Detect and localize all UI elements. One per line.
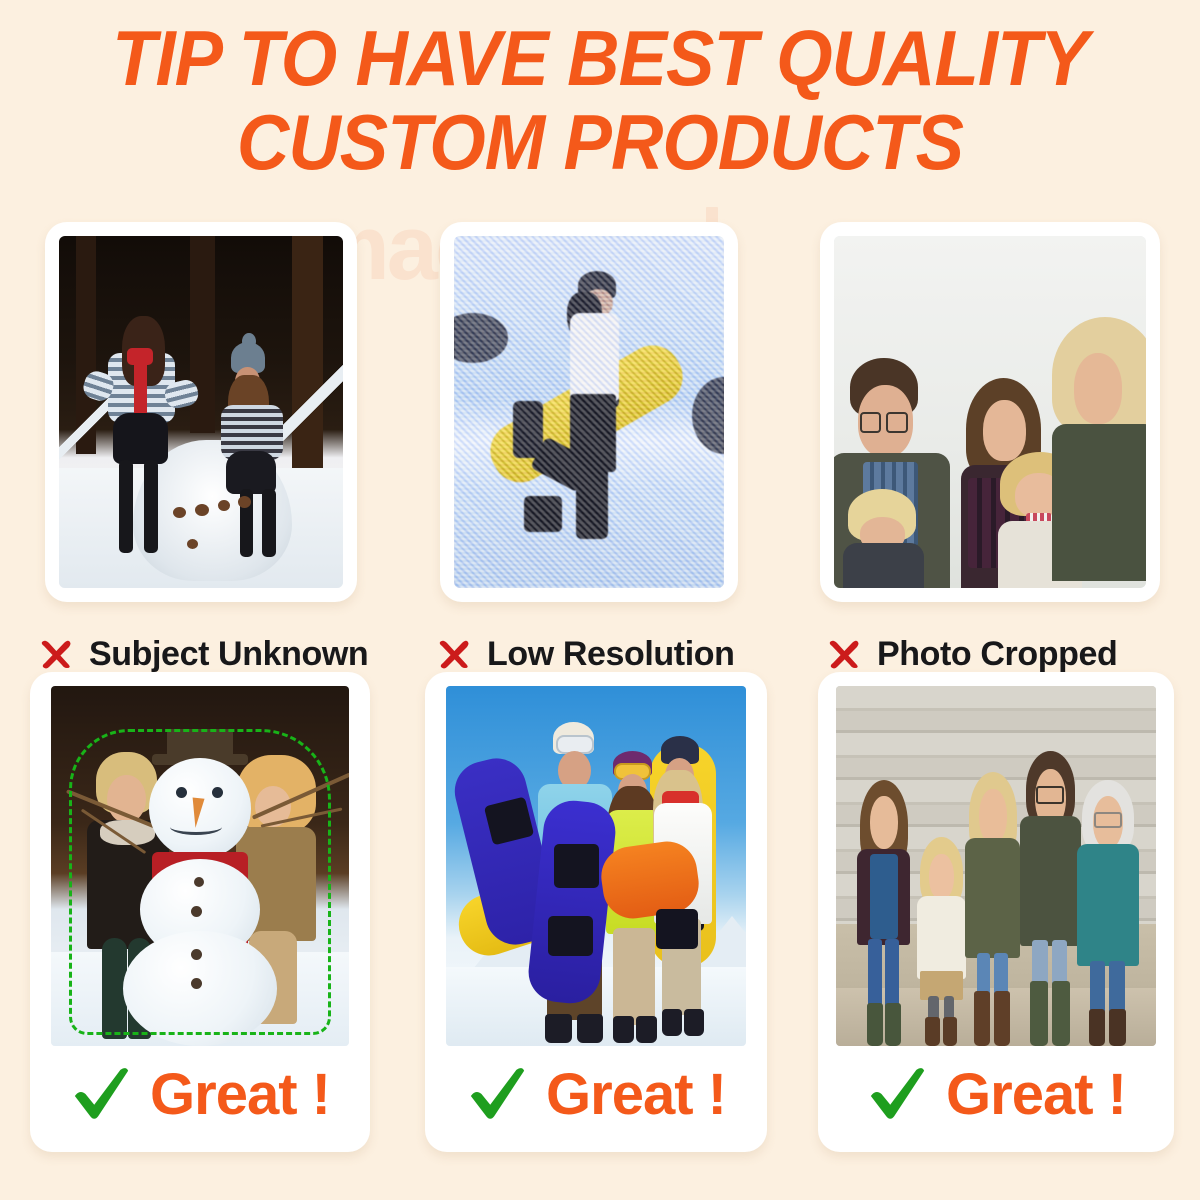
scene-three-snowboarders <box>446 686 746 1046</box>
good-examples-row: Great ! <box>0 672 1200 1172</box>
photo-cropped <box>834 236 1146 588</box>
scene-snowman-subjects <box>51 686 349 1046</box>
bad-example-photo-cropped: Photo Cropped <box>800 216 1200 666</box>
x-mark-icon <box>434 634 474 674</box>
photo-card[interactable] <box>820 222 1160 602</box>
scene-cropped-family <box>834 236 1146 588</box>
photo-low-resolution <box>454 236 724 588</box>
bad-examples-row: Subject Unknown <box>0 216 1200 666</box>
examples-grid: Subject Unknown <box>0 216 1200 1176</box>
x-mark-icon <box>36 634 76 674</box>
photo-card[interactable]: Great ! <box>30 672 370 1152</box>
photo-card[interactable] <box>45 222 357 602</box>
x-mark-icon <box>824 634 864 674</box>
good-example-snowman: Great ! <box>0 672 400 1172</box>
photo-card[interactable]: Great ! <box>425 672 767 1152</box>
bad-label-text: Low Resolution <box>487 635 735 674</box>
photo-snowboarders <box>446 686 746 1046</box>
infographic-page: TIP TO HAVE BEST QUALITY CUSTOM PRODUCTS… <box>0 0 1200 1200</box>
photo-card[interactable] <box>440 222 738 602</box>
bad-label-row: Photo Cropped <box>814 634 1117 674</box>
bad-label-text: Photo Cropped <box>877 635 1117 674</box>
good-label-row: Great ! <box>832 1052 1160 1138</box>
good-example-snowboarders: Great ! <box>400 672 800 1172</box>
check-mark-icon <box>70 1064 132 1126</box>
bad-label-text: Subject Unknown <box>89 635 368 674</box>
bad-example-low-resolution: Low Resolution <box>400 216 800 666</box>
good-label-text: Great ! <box>150 1066 330 1124</box>
bad-example-subject-unknown: Subject Unknown <box>0 216 400 666</box>
page-title: TIP TO HAVE BEST QUALITY CUSTOM PRODUCTS <box>42 16 1158 184</box>
photo-card[interactable]: Great ! <box>818 672 1174 1152</box>
photo-snowman <box>51 686 349 1046</box>
good-label-text: Great ! <box>546 1066 726 1124</box>
photo-subject-unknown <box>59 236 343 588</box>
scene-low-res-snowboarder <box>454 236 724 588</box>
bad-label-row: Subject Unknown <box>26 634 368 674</box>
scene-winter-forest <box>59 236 343 588</box>
good-label-text: Great ! <box>946 1066 1126 1124</box>
photo-barn-family <box>836 686 1156 1046</box>
check-mark-icon <box>866 1064 928 1126</box>
good-label-row: Great ! <box>439 1052 753 1138</box>
good-label-row: Great ! <box>44 1052 356 1138</box>
bad-label-row: Low Resolution <box>424 634 735 674</box>
scene-family-barn <box>836 686 1156 1046</box>
good-example-barn-family: Great ! <box>800 672 1200 1172</box>
check-mark-icon <box>466 1064 528 1126</box>
